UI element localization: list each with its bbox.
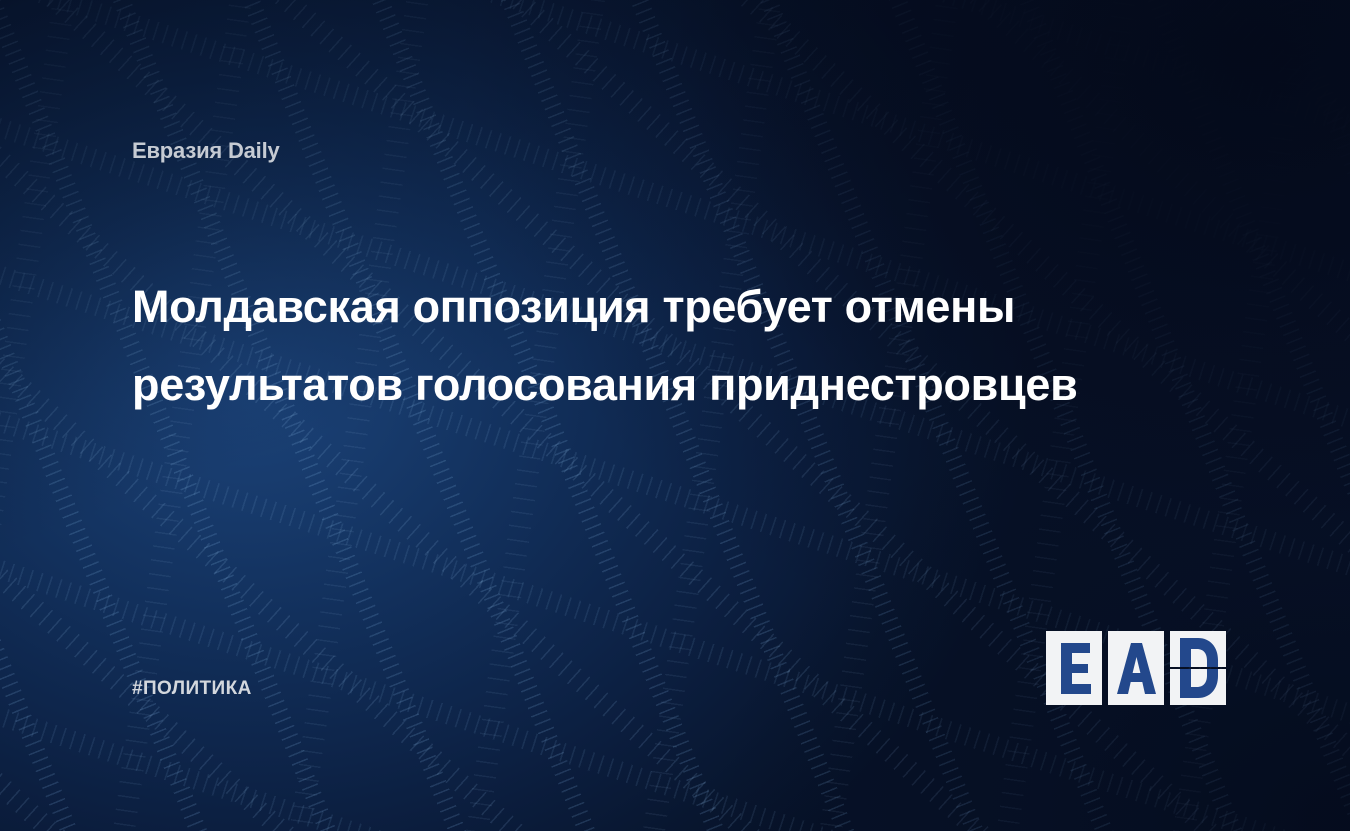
article-social-card: Евразия Daily Молдавская оппозиция требу… [0, 0, 1350, 831]
logo-tile-e [1046, 631, 1102, 705]
letter-d-icon-upper [1170, 631, 1226, 667]
letter-d-icon-lower [1170, 669, 1226, 705]
letter-a-icon [1108, 631, 1164, 705]
headline: Молдавская оппозиция требует отмены резу… [132, 268, 1242, 424]
card-content: Евразия Daily Молдавская оппозиция требу… [0, 0, 1350, 831]
ead-logo [1046, 631, 1226, 705]
logo-tile-d [1170, 631, 1226, 705]
letter-e-icon [1046, 631, 1102, 705]
category-tag: #ПОЛИТИКА [132, 678, 252, 700]
brand-name: Евразия Daily [132, 138, 280, 164]
logo-tile-a [1108, 631, 1164, 705]
